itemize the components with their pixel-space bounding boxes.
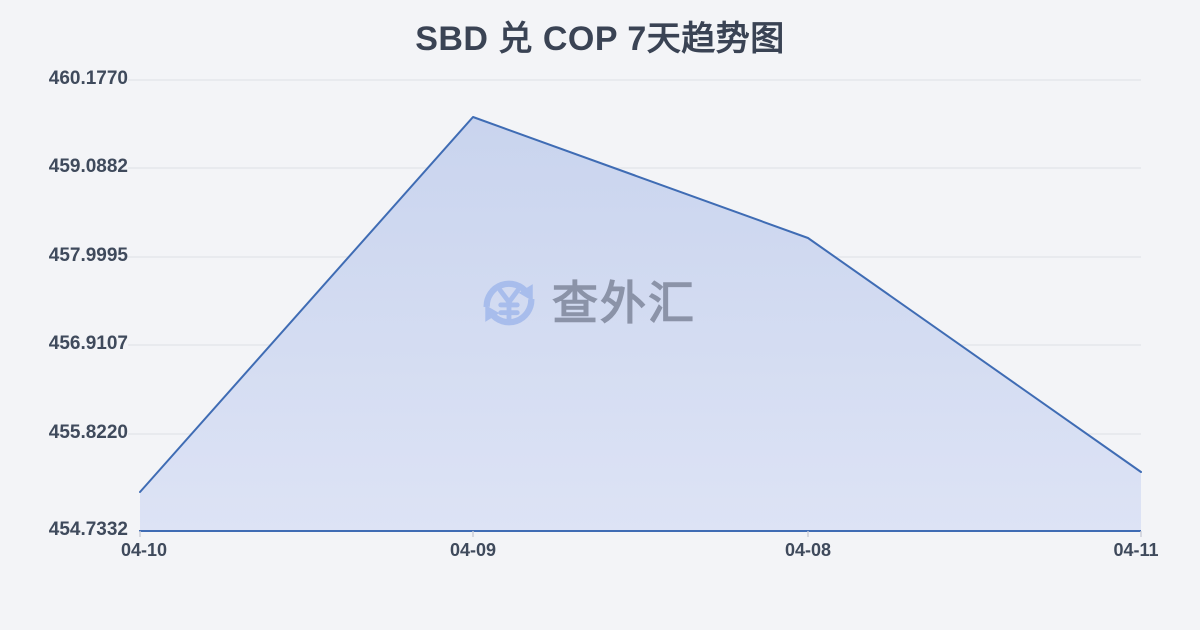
- x-axis-tick-label: 04-11: [1113, 540, 1158, 560]
- y-axis-tick-label: 455.8220: [49, 423, 128, 443]
- y-axis-tick-label: 454.7332: [49, 520, 128, 540]
- plot-area: [0, 0, 1200, 630]
- y-axis-tick-label: 456.9107: [49, 334, 128, 354]
- y-axis-labels: 460.1770459.0882457.9995456.9107455.8220…: [0, 0, 128, 630]
- x-axis-tick-label: 04-08: [785, 540, 831, 560]
- y-axis-tick-label: 459.0882: [49, 157, 128, 177]
- y-axis-tick-label: 457.9995: [49, 246, 128, 266]
- x-axis-tick-label: 04-09: [450, 540, 496, 560]
- chart-canvas: [0, 0, 1200, 630]
- y-axis-tick-label: 460.1770: [49, 69, 128, 89]
- x-axis-tick-label: 04-10: [121, 540, 167, 560]
- chart-container: SBD 兑 COP 7天趋势图 460.1770459.0882457.9995…: [0, 0, 1200, 630]
